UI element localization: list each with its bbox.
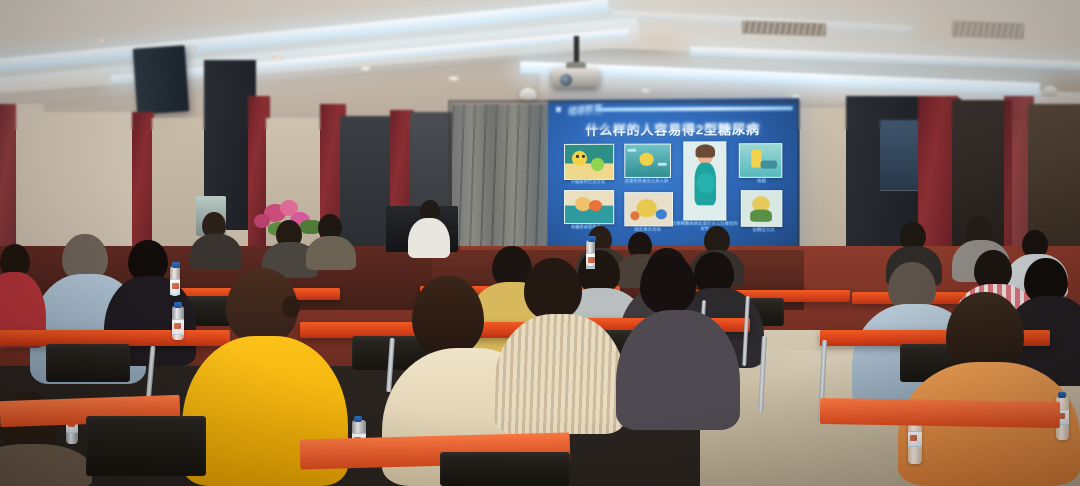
water-bottle [172, 306, 184, 340]
dome-camera-right-icon [1042, 86, 1058, 97]
wall-speaker-left-icon [133, 45, 189, 114]
seat-back [46, 344, 130, 382]
desk-foreground [820, 398, 1060, 428]
ceiling-projector-icon [552, 68, 599, 87]
bottle-cap-icon [1058, 392, 1066, 398]
seat-back [86, 416, 206, 476]
bottle-cap-icon [174, 302, 182, 308]
dome-camera-icon [519, 88, 537, 100]
downlight-icon [360, 66, 371, 71]
projector-lens-icon [560, 74, 572, 86]
bottle-label [170, 279, 180, 295]
bottle-label [172, 319, 184, 335]
downlight-icon [448, 76, 459, 81]
wall-panel [796, 108, 852, 269]
wall-window [880, 120, 918, 191]
bottle-cap-icon [172, 262, 180, 268]
downlight-icon [272, 56, 283, 61]
conference-hall-photo: 健康教育 HEALTH EDU 什么样的人容易得2型糖尿病 不健康的生活方式 [0, 0, 1080, 486]
water-bottle [170, 266, 180, 296]
bottle-cap-icon [588, 236, 596, 242]
downlight-icon [186, 46, 197, 51]
bottle-label [586, 253, 595, 269]
bottle-cap-icon [354, 416, 362, 422]
water-bottle [586, 240, 595, 266]
downlight-icon [96, 38, 107, 43]
air-vent-secondary-icon [952, 21, 1025, 40]
bottle-label [908, 431, 922, 447]
seat-back [440, 452, 570, 486]
downlight-icon [640, 88, 651, 93]
